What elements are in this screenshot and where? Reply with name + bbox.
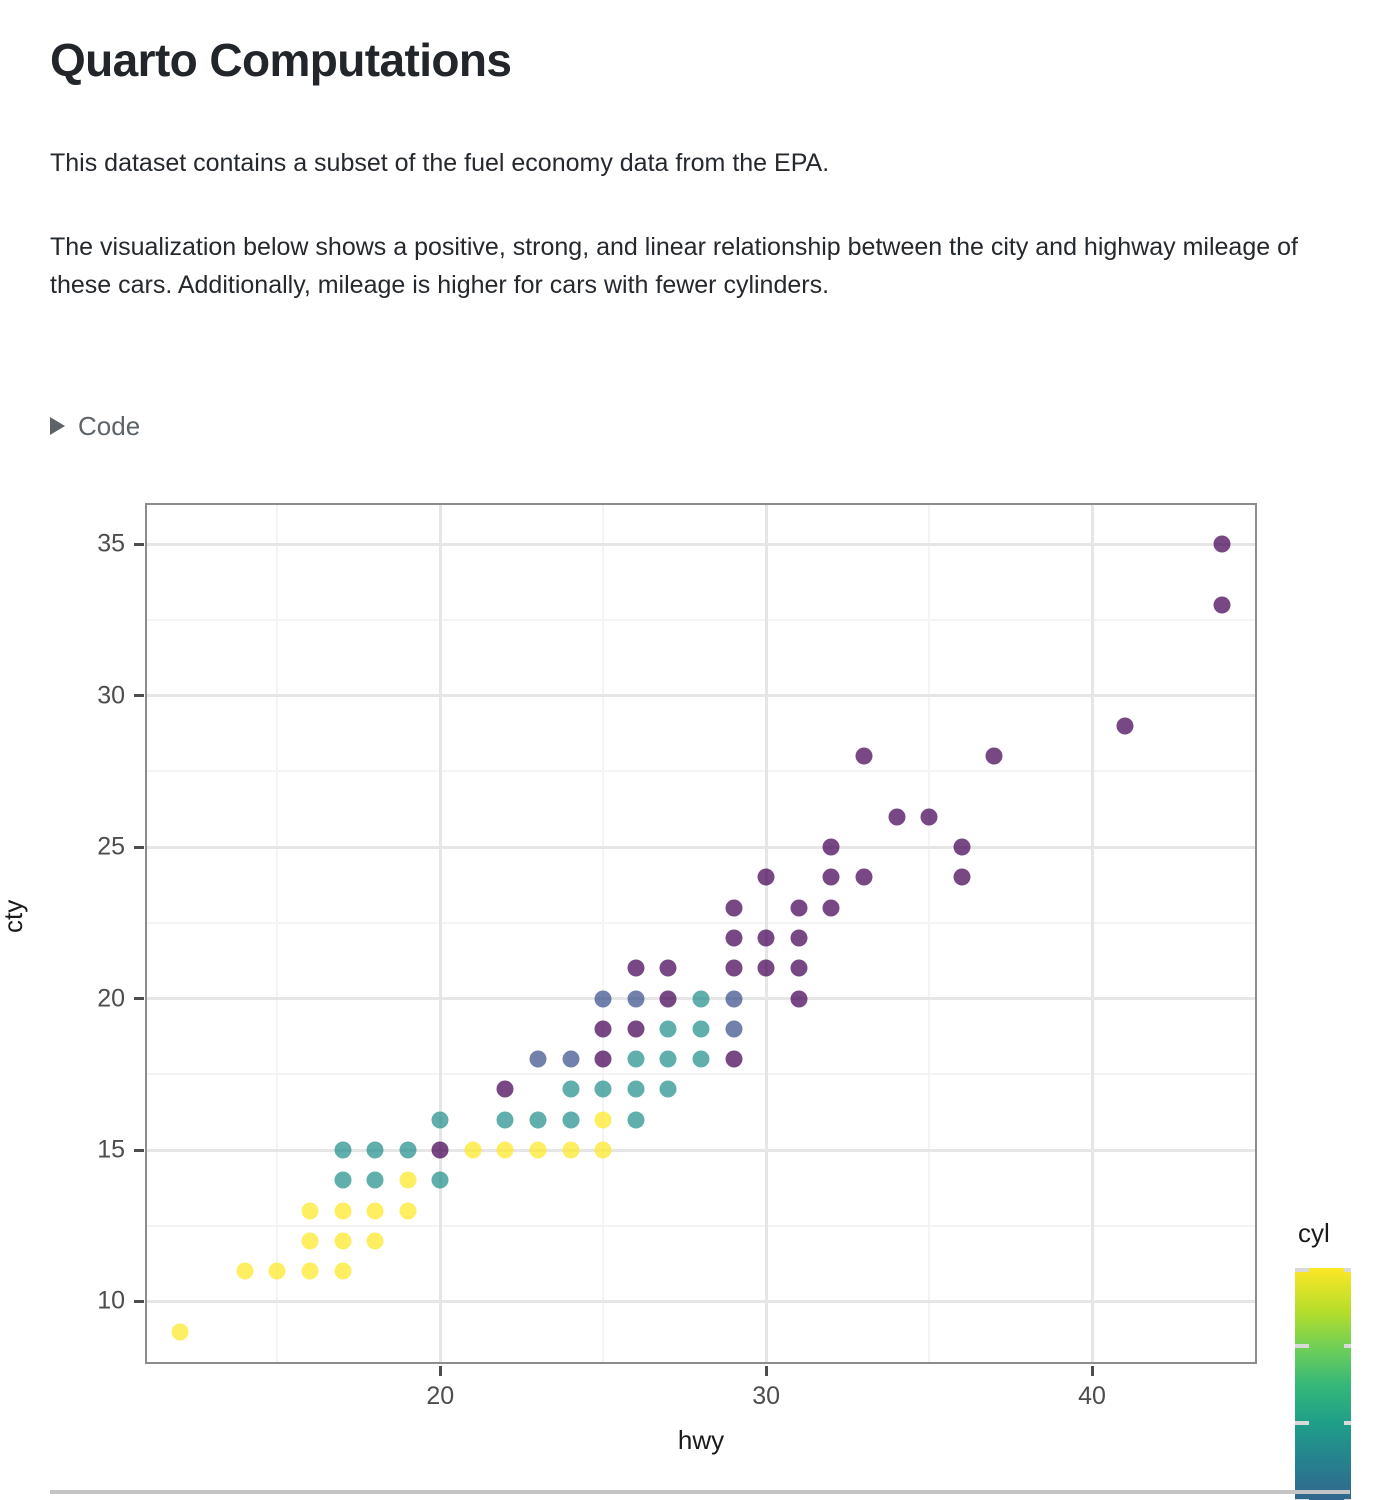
y-axis-tick-mark bbox=[134, 1149, 144, 1152]
y-axis-tick-mark bbox=[134, 694, 144, 697]
data-point bbox=[301, 1232, 318, 1249]
data-point bbox=[855, 869, 872, 886]
gridline-minor-horizontal bbox=[147, 922, 1255, 924]
colourbar-tick bbox=[1344, 1268, 1351, 1272]
data-point bbox=[367, 1142, 384, 1159]
colourbar-tick bbox=[1295, 1421, 1309, 1425]
legend-title: cyl bbox=[1298, 1218, 1330, 1249]
gridline-major-vertical bbox=[1091, 505, 1094, 1362]
gridline-major-horizontal bbox=[147, 1149, 1255, 1152]
y-axis-tick-mark bbox=[134, 846, 144, 849]
plot-panel bbox=[145, 503, 1257, 1364]
data-point bbox=[660, 960, 677, 977]
data-point bbox=[725, 899, 742, 916]
data-point bbox=[823, 839, 840, 856]
data-point bbox=[595, 1142, 612, 1159]
data-point bbox=[334, 1142, 351, 1159]
scatter-plot-figure: cty hwy 101520253035 203040 cyl bbox=[0, 470, 1400, 1470]
gridline-major-horizontal bbox=[147, 694, 1255, 697]
data-point bbox=[627, 990, 644, 1007]
triangle-right-icon bbox=[50, 417, 65, 435]
gridline-major-horizontal bbox=[147, 543, 1255, 546]
data-point bbox=[758, 960, 775, 977]
y-axis-title: cty bbox=[0, 900, 29, 933]
data-point bbox=[497, 1142, 514, 1159]
x-axis-tick-label: 30 bbox=[752, 1382, 780, 1411]
data-point bbox=[790, 960, 807, 977]
data-point bbox=[693, 1051, 710, 1068]
data-point bbox=[595, 1020, 612, 1037]
data-point bbox=[758, 869, 775, 886]
colourbar-tick bbox=[1295, 1268, 1309, 1272]
data-point bbox=[725, 960, 742, 977]
data-point bbox=[953, 839, 970, 856]
data-point bbox=[823, 869, 840, 886]
data-point bbox=[171, 1323, 188, 1340]
gridline-major-horizontal bbox=[147, 1300, 1255, 1303]
gridline-minor-horizontal bbox=[147, 1225, 1255, 1227]
data-point bbox=[790, 990, 807, 1007]
y-axis-tick-label: 25 bbox=[97, 833, 125, 862]
colourbar-tick bbox=[1344, 1421, 1351, 1425]
data-point bbox=[595, 1111, 612, 1128]
data-point bbox=[953, 869, 970, 886]
data-point bbox=[660, 1051, 677, 1068]
data-point bbox=[627, 960, 644, 977]
y-axis-tick-label: 10 bbox=[97, 1287, 125, 1316]
data-point bbox=[464, 1142, 481, 1159]
data-point bbox=[595, 990, 612, 1007]
data-point bbox=[497, 1111, 514, 1128]
gridline-major-vertical bbox=[439, 505, 442, 1362]
y-axis-tick-label: 35 bbox=[97, 530, 125, 559]
gridline-minor-horizontal bbox=[147, 770, 1255, 772]
legend-colourbar[interactable] bbox=[1295, 1268, 1351, 1500]
data-point bbox=[530, 1051, 547, 1068]
data-point bbox=[562, 1051, 579, 1068]
description-paragraph: The visualization below shows a positive… bbox=[50, 228, 1340, 304]
data-point bbox=[367, 1172, 384, 1189]
data-point bbox=[888, 808, 905, 825]
data-point bbox=[497, 1081, 514, 1098]
data-point bbox=[432, 1111, 449, 1128]
data-point bbox=[660, 1081, 677, 1098]
colourbar-tick bbox=[1344, 1344, 1351, 1348]
gridline-minor-vertical bbox=[276, 505, 278, 1362]
data-point bbox=[399, 1142, 416, 1159]
y-axis-tick-label: 20 bbox=[97, 984, 125, 1013]
data-point bbox=[334, 1263, 351, 1280]
data-point bbox=[432, 1172, 449, 1189]
data-point bbox=[921, 808, 938, 825]
data-point bbox=[367, 1202, 384, 1219]
data-point bbox=[627, 1051, 644, 1068]
data-point bbox=[660, 1020, 677, 1037]
data-point bbox=[334, 1172, 351, 1189]
y-axis-tick-mark bbox=[134, 1300, 144, 1303]
data-point bbox=[693, 990, 710, 1007]
data-point bbox=[301, 1202, 318, 1219]
data-point bbox=[399, 1172, 416, 1189]
x-axis-tick-mark bbox=[765, 1366, 768, 1376]
data-point bbox=[725, 1020, 742, 1037]
y-axis-tick-mark bbox=[134, 543, 144, 546]
data-point bbox=[562, 1111, 579, 1128]
y-axis-tick-mark bbox=[134, 997, 144, 1000]
data-point bbox=[758, 930, 775, 947]
data-point bbox=[693, 1020, 710, 1037]
x-axis-title: hwy bbox=[145, 1425, 1257, 1456]
data-point bbox=[627, 1020, 644, 1037]
data-point bbox=[725, 1051, 742, 1068]
data-point bbox=[823, 899, 840, 916]
data-point bbox=[595, 1081, 612, 1098]
gridline-major-horizontal bbox=[147, 846, 1255, 849]
code-disclosure-label: Code bbox=[78, 413, 140, 439]
data-point bbox=[562, 1081, 579, 1098]
data-point bbox=[301, 1263, 318, 1280]
data-point bbox=[725, 930, 742, 947]
data-point bbox=[627, 1111, 644, 1128]
data-point bbox=[399, 1202, 416, 1219]
data-point bbox=[334, 1232, 351, 1249]
plot-area bbox=[147, 505, 1255, 1362]
data-point bbox=[530, 1142, 547, 1159]
x-axis-tick-label: 40 bbox=[1078, 1382, 1106, 1411]
data-point bbox=[530, 1111, 547, 1128]
gridline-minor-horizontal bbox=[147, 619, 1255, 621]
data-point bbox=[1214, 536, 1231, 553]
document-page: Quarto Computations This dataset contain… bbox=[0, 0, 1400, 1500]
page-title: Quarto Computations bbox=[50, 34, 511, 87]
data-point bbox=[269, 1263, 286, 1280]
gridline-minor-vertical bbox=[928, 505, 930, 1362]
data-point bbox=[562, 1142, 579, 1159]
data-point bbox=[790, 930, 807, 947]
data-point bbox=[595, 1051, 612, 1068]
data-point bbox=[334, 1202, 351, 1219]
x-axis-tick-label: 20 bbox=[426, 1382, 454, 1411]
y-axis-tick-label: 30 bbox=[97, 681, 125, 710]
gridline-minor-horizontal bbox=[147, 1073, 1255, 1075]
x-axis-tick-mark bbox=[439, 1366, 442, 1376]
data-point bbox=[432, 1142, 449, 1159]
code-disclosure-toggle[interactable]: Code bbox=[50, 413, 140, 439]
data-point bbox=[790, 899, 807, 916]
data-point bbox=[986, 748, 1003, 765]
intro-paragraph: This dataset contains a subset of the fu… bbox=[50, 144, 1340, 182]
page-divider bbox=[50, 1490, 1350, 1494]
data-point bbox=[1116, 718, 1133, 735]
gridline-minor-vertical bbox=[602, 505, 604, 1362]
y-axis-tick-label: 15 bbox=[97, 1136, 125, 1165]
data-point bbox=[660, 990, 677, 1007]
data-point bbox=[855, 748, 872, 765]
colourbar-tick bbox=[1295, 1344, 1309, 1348]
data-point bbox=[725, 990, 742, 1007]
data-point bbox=[1214, 596, 1231, 613]
data-point bbox=[236, 1263, 253, 1280]
x-axis-tick-mark bbox=[1091, 1366, 1094, 1376]
data-point bbox=[367, 1232, 384, 1249]
data-point bbox=[627, 1081, 644, 1098]
